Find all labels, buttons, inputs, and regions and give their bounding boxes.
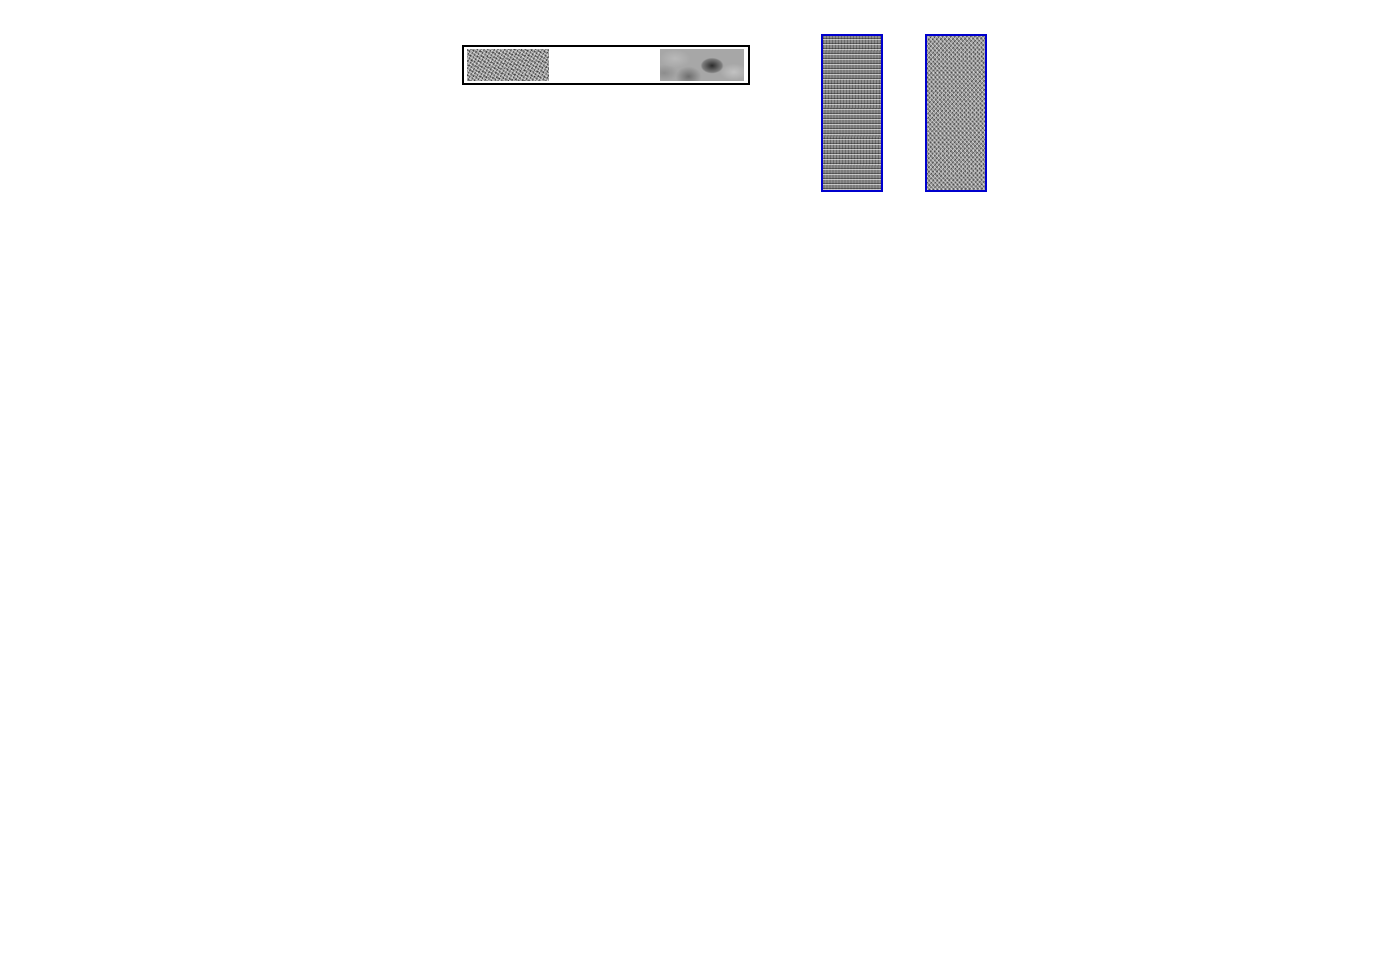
- with-sky-image: [821, 34, 883, 192]
- header-datetime-version: [1055, 4, 1063, 20]
- hsc-r-svg: [418, 526, 618, 706]
- weighted-sum-smoothed-image: [660, 49, 744, 81]
- header-summary-line: [68, 4, 204, 20]
- spec-2d-panels: [462, 32, 762, 252]
- emission-line-labels: [78, 272, 1300, 362]
- clean-image-image: [925, 34, 987, 192]
- hscdex-headline: [62, 486, 71, 502]
- info-plae: [68, 50, 78, 68]
- full-spectrum-plot: [78, 272, 1300, 447]
- source-info-block: [68, 32, 78, 68]
- info-cont-w: [68, 32, 78, 50]
- lineflux-map-panel: [240, 510, 440, 725]
- with-sky-cutout: [808, 32, 896, 192]
- fiber-rows-container: [462, 88, 762, 248]
- weighted-sum-row: [462, 45, 750, 85]
- line-fit-plot: [1040, 52, 1298, 230]
- lineflux-map-svg: [240, 526, 440, 706]
- weighted-sum-pixelflat-image: [554, 47, 654, 83]
- hsc-r-panel: [418, 510, 618, 740]
- line-fit-svg: [1040, 52, 1298, 230]
- fiber-positions-panel: [62, 510, 262, 715]
- fiber-positions-svg: [62, 526, 262, 706]
- weighted-sum-2dspec-image: [467, 49, 549, 81]
- clean-image-cutout: [908, 32, 1004, 192]
